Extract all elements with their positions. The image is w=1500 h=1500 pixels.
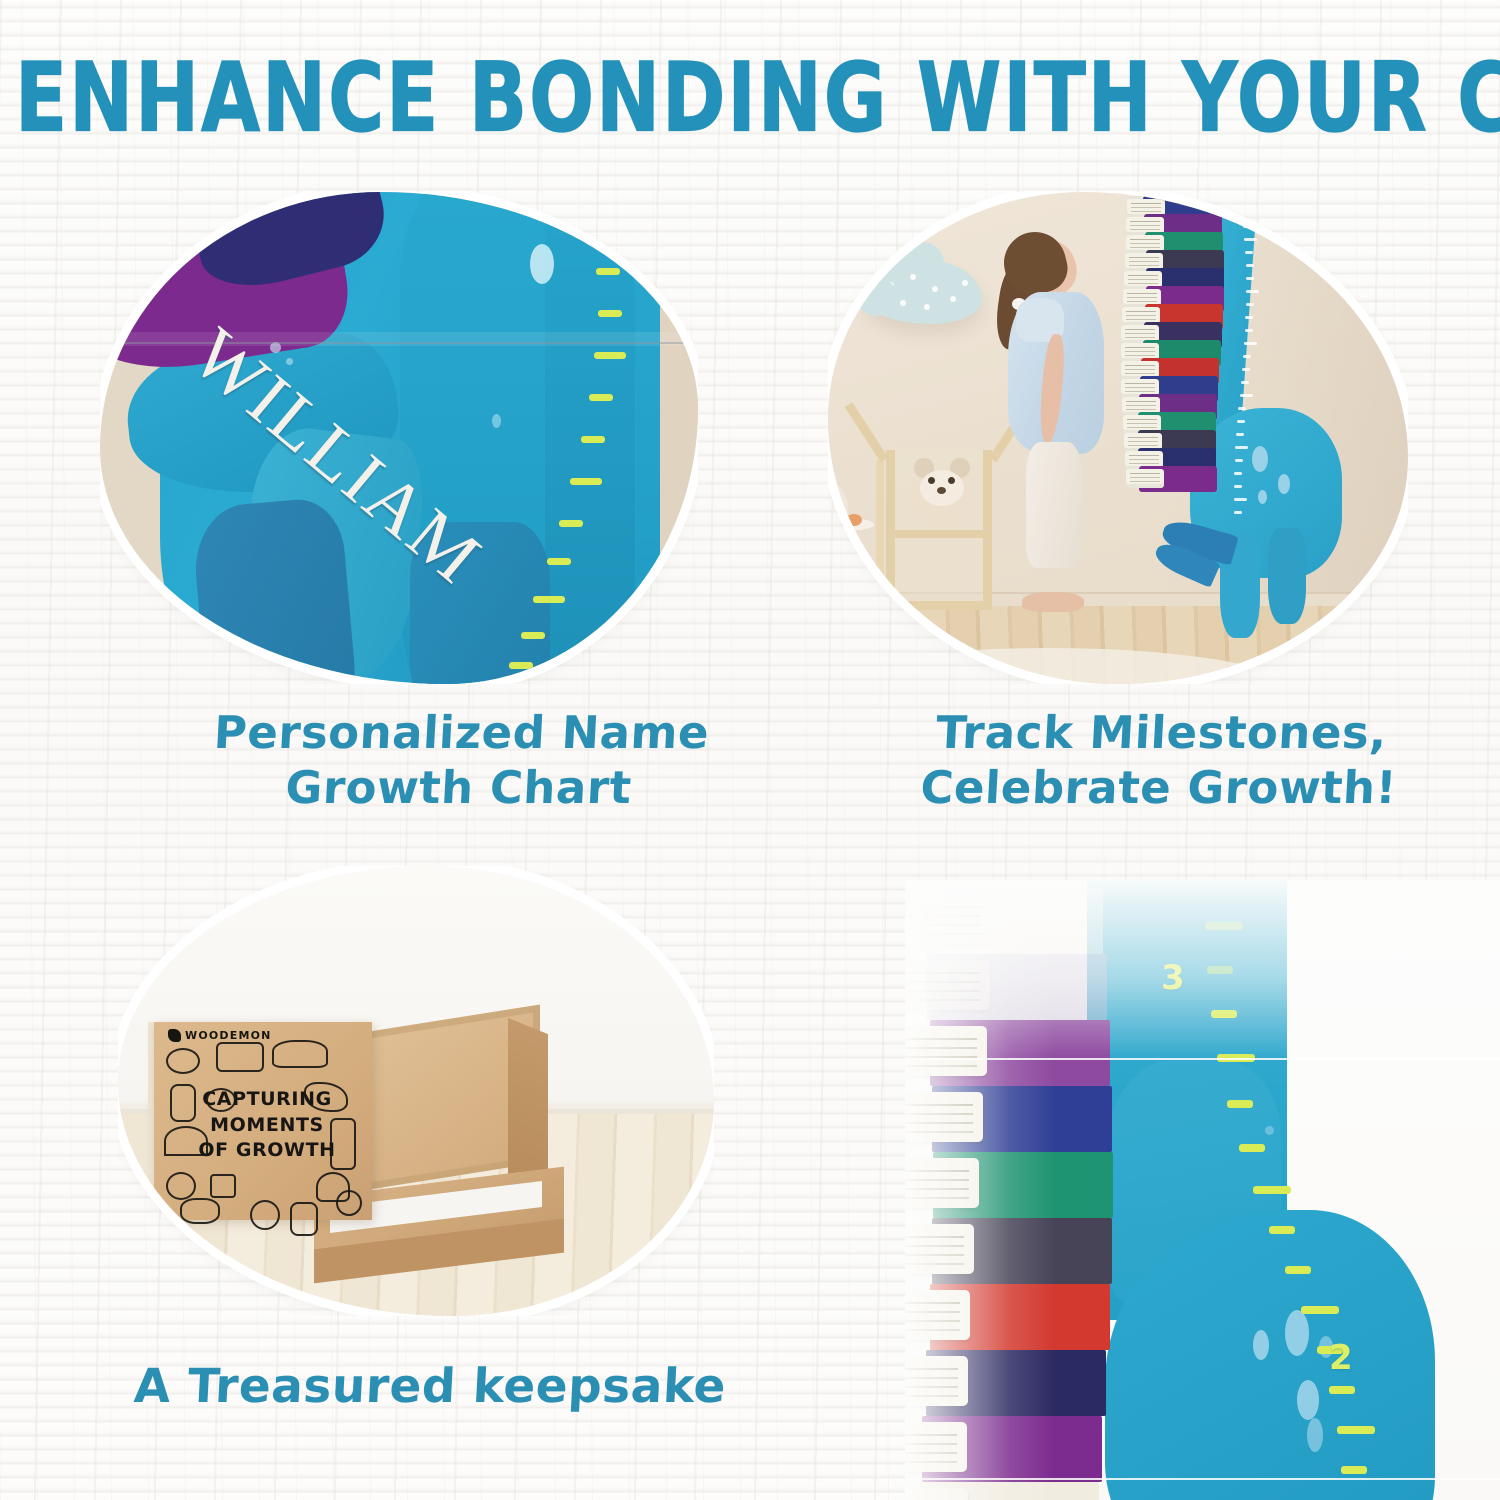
doodle-shape <box>250 1200 280 1230</box>
closeup-left-fade <box>905 880 1055 1500</box>
ruler-tick <box>593 227 625 234</box>
ruler-tick <box>1243 225 1251 228</box>
shelf-middle-board <box>886 530 992 538</box>
fruit <box>846 514 862 526</box>
house-shelf <box>828 430 1004 610</box>
ruler-tick <box>1244 342 1257 345</box>
ruler-tick <box>533 596 565 603</box>
ruler-tick <box>1329 1386 1355 1394</box>
ruler-tick <box>1238 407 1246 410</box>
brand-logo: WOODEMON <box>168 1029 272 1042</box>
ruler-tick <box>596 268 620 275</box>
child-feet <box>1022 592 1084 612</box>
box-headline-line-1: CAPTURING <box>182 1087 352 1113</box>
teddy-eye-left <box>928 477 935 484</box>
dino-spot <box>530 244 554 284</box>
ruler-tick <box>547 558 571 565</box>
caption-3-line-1: A Treasured keepsake <box>98 1358 761 1415</box>
ruler-tick <box>1269 1226 1295 1234</box>
caption-2-line-2: Celebrate Growth! <box>857 761 1460 816</box>
ruler-tick <box>1241 199 1249 202</box>
ruler-tick <box>509 662 533 669</box>
ruler-tick <box>1239 1144 1265 1152</box>
ruler-tick <box>589 394 613 401</box>
ruler-tick <box>1341 1466 1367 1474</box>
ruler-tick <box>559 520 583 527</box>
ruler-tick <box>1246 264 1254 267</box>
doodle-shape <box>290 1202 318 1236</box>
panel-2-frame <box>828 192 1408 684</box>
doodle-shape <box>166 1048 200 1074</box>
ruler-tick <box>1246 303 1254 306</box>
dino-nostril-small <box>198 674 215 684</box>
ruler-tick <box>1235 459 1243 462</box>
chart-leg-back <box>1268 528 1306 624</box>
panel-personalized-name: WILLIAM <box>100 192 698 684</box>
doodle-shape <box>166 1172 196 1200</box>
ruler-tick <box>1240 394 1253 397</box>
panel-track-milestones <box>828 192 1408 684</box>
ruler-tick <box>594 352 626 359</box>
ruler-tick <box>570 478 602 485</box>
ruler-tick <box>1245 251 1253 254</box>
ruler-tick <box>1301 1306 1339 1314</box>
box-headline: CAPTURING MOMENTS OF GROWTH <box>182 1087 352 1164</box>
ruler-tick <box>1227 1100 1253 1108</box>
doodle-shape <box>272 1040 328 1068</box>
ruler-tick <box>1244 238 1257 241</box>
brand-name: WOODEMON <box>185 1029 272 1042</box>
caption-personalized-name: Personalized Name Growth Chart <box>117 706 803 816</box>
ruler-tick <box>1246 277 1254 280</box>
dino-front-leg <box>190 496 359 684</box>
doodle-shape <box>210 1174 236 1198</box>
teddy-eye-right <box>948 477 955 484</box>
caption-1-line-2: Growth Chart <box>117 761 800 816</box>
dino-spot <box>492 414 501 428</box>
caption-1-line-1: Personalized Name <box>120 706 803 761</box>
doodle-shape <box>180 1198 220 1224</box>
teddy-nose <box>937 487 946 494</box>
wall-growth-chart <box>1128 192 1374 648</box>
ruler-tick <box>1337 1426 1375 1434</box>
ruler-tick <box>1242 212 1250 215</box>
ruler-tick <box>1245 316 1253 319</box>
box-headline-line-3: OF GROWTH <box>182 1138 352 1164</box>
ruler-tick <box>1236 433 1244 436</box>
ruler-tick <box>581 436 605 443</box>
brand-mark-icon <box>168 1029 181 1042</box>
ruler-tick <box>1242 368 1250 371</box>
ruler-tick <box>1234 498 1247 501</box>
caption-2-line-1: Track Milestones, <box>860 706 1463 761</box>
panel-3-frame: WOODEMON CAPTURING MOMENTS OF GROWTH <box>118 866 714 1316</box>
ruler-tick <box>1235 446 1248 449</box>
panel-1-frame: WILLIAM <box>100 192 698 684</box>
caption-track-milestones: Track Milestones, Celebrate Growth! <box>857 706 1463 816</box>
panel-ruler-closeup: 3 2 <box>905 880 1500 1500</box>
box-headline-line-2: MOMENTS <box>182 1113 352 1139</box>
ruler-number-2: 2 <box>1329 1338 1353 1378</box>
caption-treasured-keepsake: A Treasured keepsake <box>98 1358 761 1415</box>
ruler-tick <box>1234 511 1242 514</box>
ruler-tick <box>1234 485 1242 488</box>
book-tag <box>1126 469 1164 488</box>
ruler-tick <box>521 632 545 639</box>
ruler-tick <box>1237 420 1245 423</box>
ruler-tick <box>1241 381 1249 384</box>
child-leggings <box>1026 442 1082 568</box>
ruler-tick <box>598 310 622 317</box>
ruler-tick <box>1245 329 1253 332</box>
page-title: ENHANCE BONDING WITH YOUR CHILD <box>15 44 1485 154</box>
doodle-shape <box>216 1042 264 1072</box>
ruler-tick <box>1253 1186 1291 1194</box>
ruler-tick <box>1246 290 1259 293</box>
doodle-shape <box>336 1190 362 1216</box>
panel-treasured-keepsake: WOODEMON CAPTURING MOMENTS OF GROWTH <box>118 866 714 1316</box>
panel-1-divider-line <box>100 342 698 344</box>
child-standing <box>988 236 1128 608</box>
ruler-tick <box>1234 472 1242 475</box>
ruler-tick <box>1243 355 1251 358</box>
ruler-tick <box>1285 1266 1311 1274</box>
